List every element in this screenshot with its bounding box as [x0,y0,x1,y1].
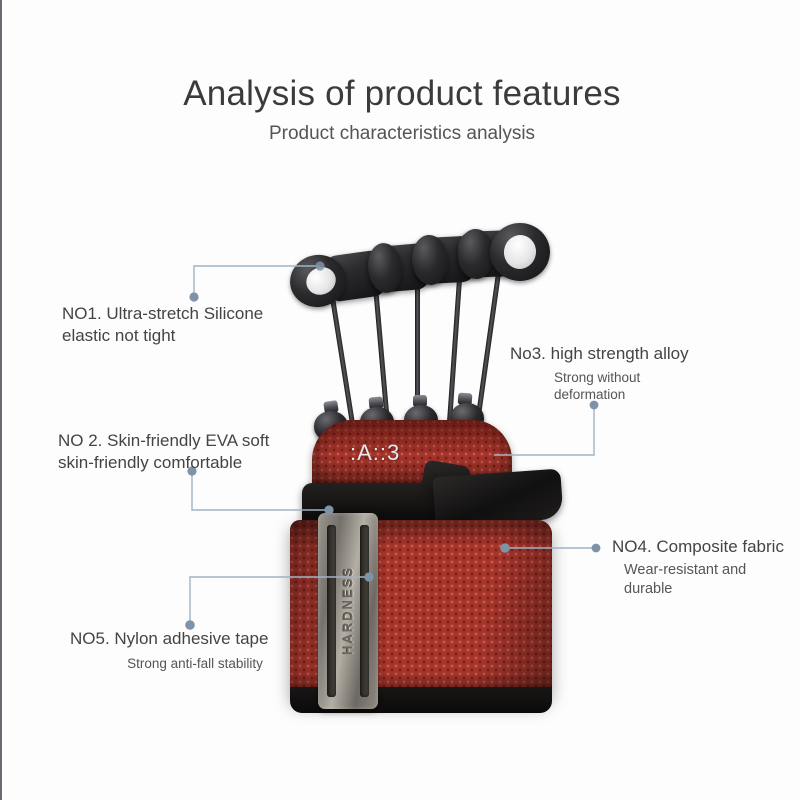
velcro-tab [432,469,563,528]
product-photo: :A::3 HARDNESS [272,225,592,725]
annotation-no3: No3. high strength alloy Strong without … [510,343,750,403]
page-subtitle: Product characteristics analysis [2,123,800,145]
product-rod [475,259,503,426]
brand-text: HARDNESS [318,513,378,709]
image-watermark: :A::3 [350,440,400,466]
leader-dot-no1 [189,292,198,301]
annotation-no5-title: NO5. Nylon adhesive tape [70,628,320,650]
annotation-no5-sub: Strong anti-fall stability [70,655,320,672]
annotation-no4-title: NO4. Composite fabric [612,536,800,558]
annotation-no5: NO5. Nylon adhesive tape Strong anti-fal… [70,628,320,672]
page-title: Analysis of product features [2,74,800,114]
product-feature-infographic: Analysis of product features Product cha… [0,0,800,800]
annotation-no1: NO1. Ultra-stretch Silicone elastic not … [62,303,322,347]
metal-buckle: HARDNESS [318,513,378,709]
annotation-no4-sub: Wear-resistant and durable [624,561,800,599]
annotation-no2: NO 2. Skin-friendly EVA soft skin-friend… [58,430,333,474]
annotation-no3-sub: Strong without deformation [554,369,750,403]
finger-ring [490,223,550,281]
annotation-no4: NO4. Composite fabric Wear-resistant and… [612,536,800,599]
annotation-no3-title: No3. high strength alloy [510,343,750,365]
ring-hole [302,262,341,299]
leader-dot-no4 [592,544,601,553]
ring-hole [501,232,538,271]
annotation-no2-title: NO 2. Skin-friendly EVA soft skin-friend… [58,430,333,474]
annotation-no1-title: NO1. Ultra-stretch Silicone elastic not … [62,303,322,347]
